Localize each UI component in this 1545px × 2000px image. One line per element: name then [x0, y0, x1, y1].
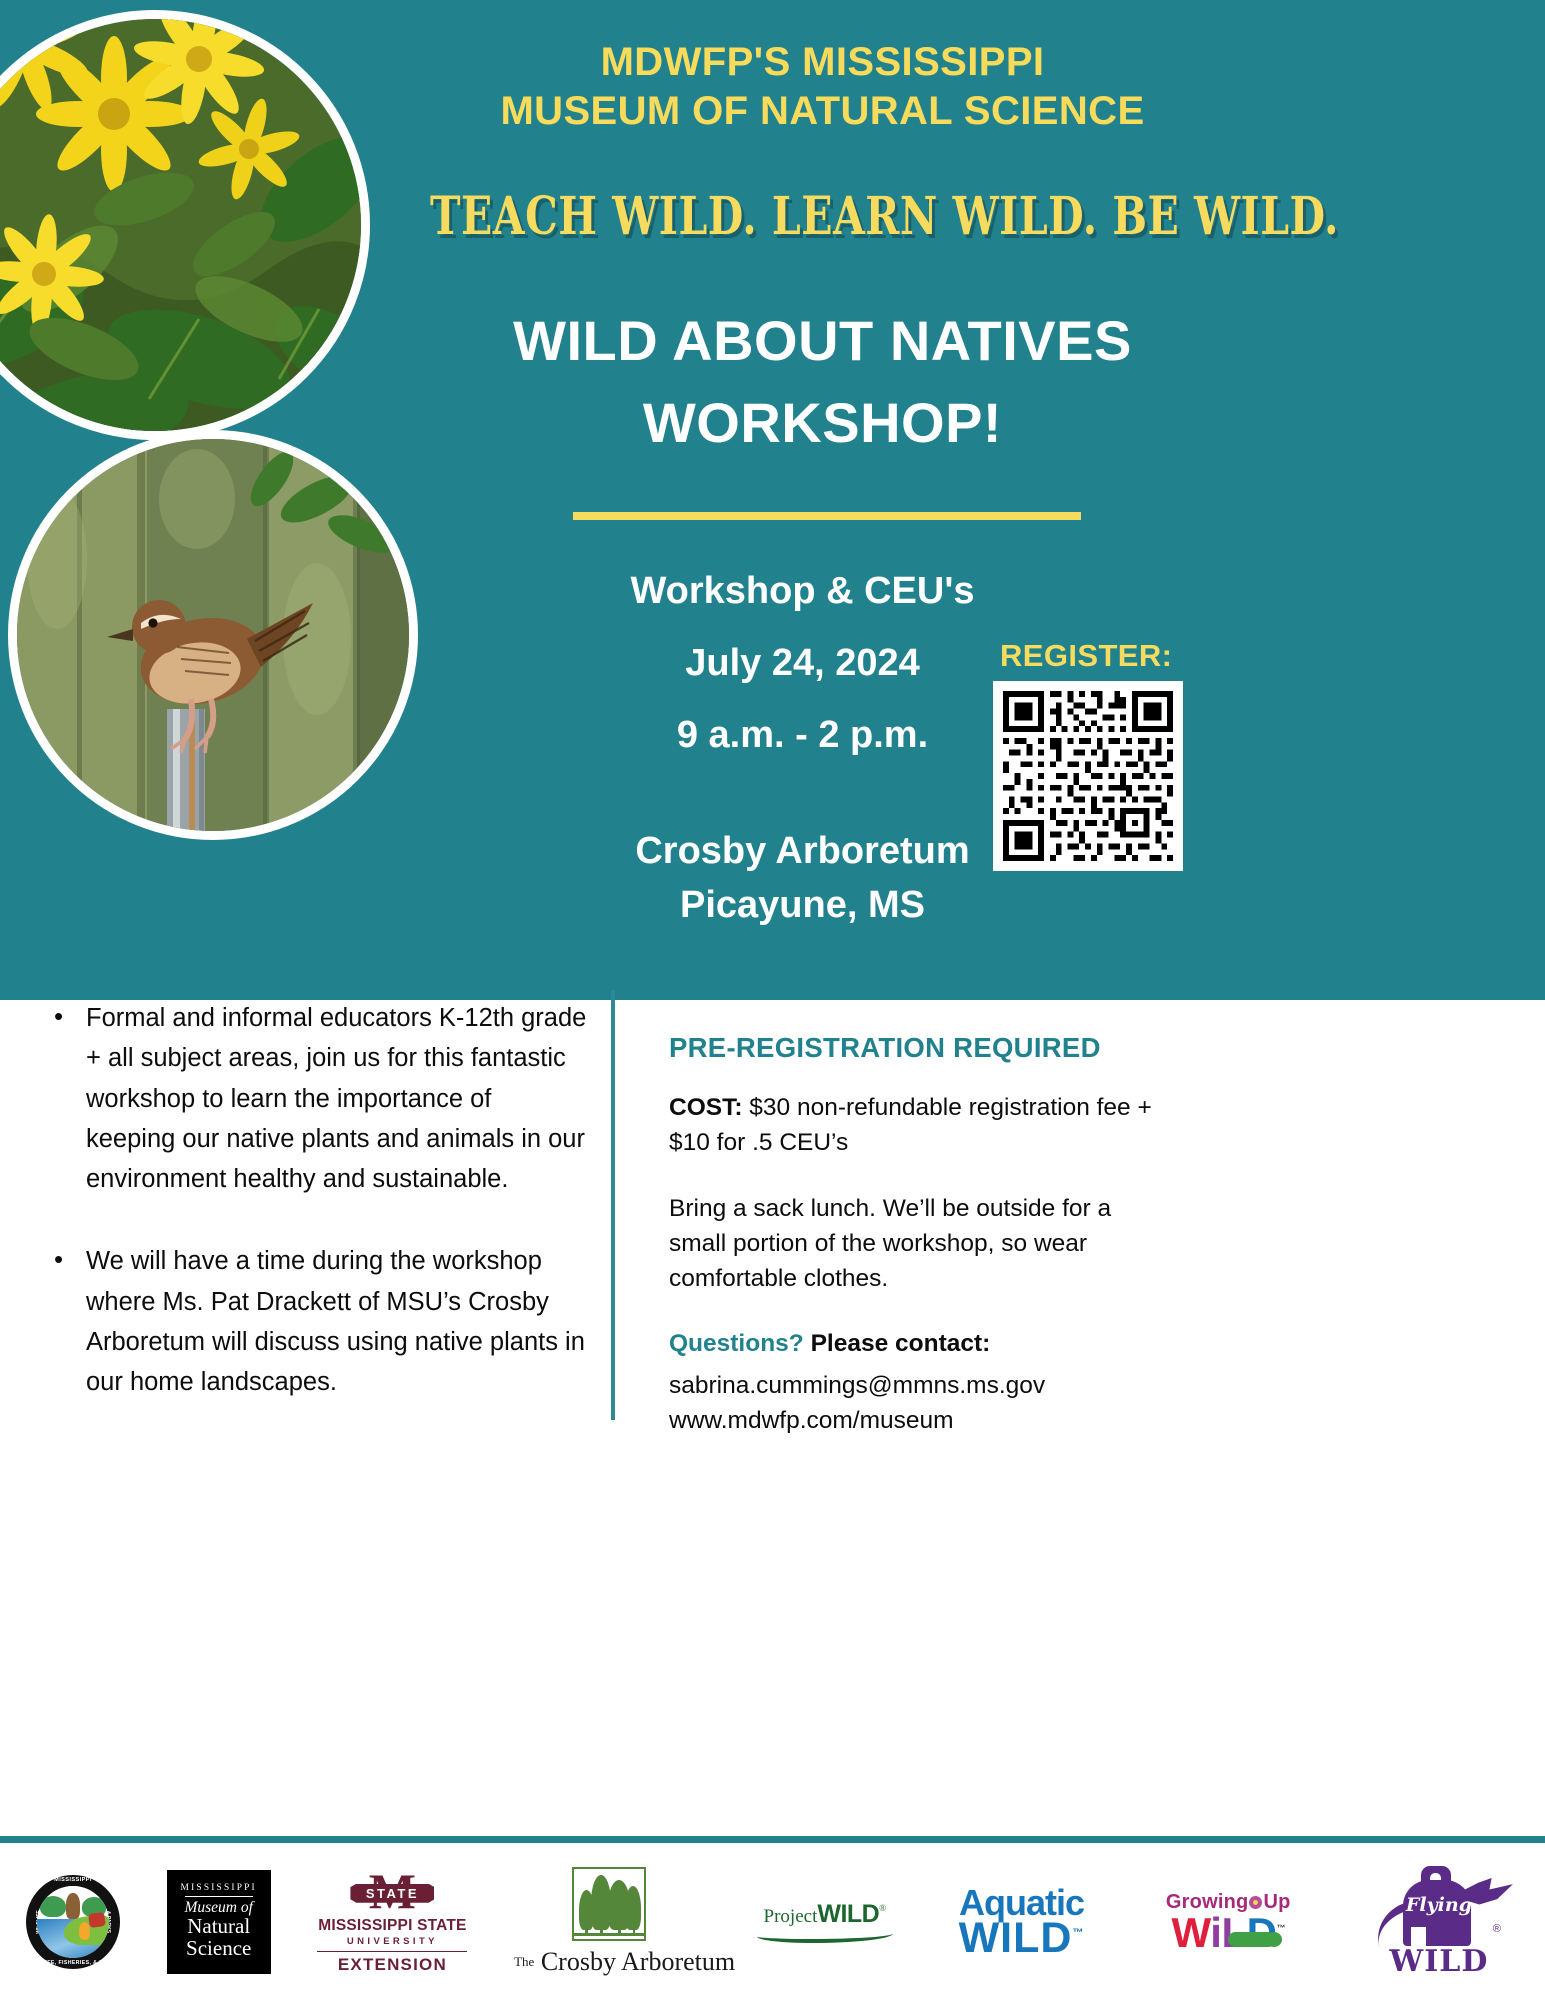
qr-code-image	[1003, 691, 1173, 861]
column-divider	[611, 990, 615, 1420]
logo-growing-up-wild: GrowingUp WiLD™	[1144, 1891, 1312, 1953]
tm-mark: ™	[1072, 1927, 1084, 1939]
crosby-title: The Crosby Arboretum	[514, 1947, 704, 1977]
pre-registration-panel: PRE-REGISTRATION REQUIRED COST: $30 non-…	[669, 1032, 1159, 1439]
logo-mdwfp-seal: MISSISSIPPI WILDLIFE & PARKS WILDLIFE, F…	[26, 1875, 120, 1969]
photo-yellow-wildflowers-image	[0, 19, 361, 431]
seal-emblem	[37, 1886, 109, 1958]
crosby-tree-mark	[572, 1867, 646, 1941]
prereg-heading: PRE-REGISTRATION REQUIRED	[669, 1032, 1159, 1064]
title-divider-rule	[573, 512, 1081, 520]
msu-university: UNIVERSITY	[317, 1936, 467, 1947]
event-line-workshop-ceus: Workshop & CEU's	[430, 572, 1175, 610]
caterpillar-icon	[1228, 1932, 1276, 1947]
page-title: WILD ABOUT NATIVES WORKSHOP!	[440, 300, 1205, 464]
project-word: Project	[764, 1906, 818, 1927]
flower-icon	[1249, 1896, 1262, 1909]
list-item: Formal and informal educators K-12th gra…	[42, 998, 587, 1199]
page-title-line2: WORKSHOP!	[440, 382, 1205, 464]
logo-crosby-arboretum: The Crosby Arboretum	[514, 1867, 704, 1977]
cost-label: COST:	[669, 1094, 743, 1121]
cost-paragraph: COST: $30 non-refundable registration fe…	[669, 1090, 1159, 1161]
registered-mark: ®	[1493, 1923, 1501, 1935]
letter-i: i	[1210, 1909, 1221, 1956]
project-wild-swoosh	[757, 1927, 893, 1943]
list-item: We will have a time during the workshop …	[42, 1241, 587, 1402]
org-title-line1: MDWFP'S MISSISSIPPI	[450, 38, 1195, 87]
msu-extension: EXTENSION	[317, 1955, 467, 1975]
qr-code[interactable]	[993, 681, 1183, 871]
mmns-line4: Science	[186, 1938, 251, 1960]
contact-label: Please contact:	[811, 1330, 991, 1357]
letter-w: W	[1171, 1909, 1210, 1956]
flying-wild-wordmark: WILD	[1359, 1944, 1519, 1979]
wild-wordmark: WiLD™	[1144, 1914, 1312, 1953]
mmns-line1: MISSISSIPPI	[181, 1883, 257, 1893]
photo-carolina-wren	[8, 430, 418, 840]
flying-wild-barn-icon: Flying	[1379, 1864, 1499, 1948]
tagline-container: TEACH WILD. LEARN WILD. BE WILD.	[430, 192, 1200, 240]
logo-project-wild: ProjectWILD®	[751, 1900, 899, 1943]
contact-email[interactable]: sabrina.cummings@mmns.ms.gov	[669, 1368, 1159, 1404]
seal-top-text: MISSISSIPPI	[26, 1877, 120, 1883]
flying-script: Flying	[1406, 1894, 1468, 1916]
page-title-line1: WILD ABOUT NATIVES	[440, 300, 1205, 382]
crosby-the: The	[514, 1954, 534, 1969]
photo-yellow-wildflowers	[0, 10, 370, 440]
register-label: REGISTER:	[1000, 638, 1172, 674]
logo-ms-museum-natural-science: MISSISSIPPI Museum of Natural Science	[167, 1870, 271, 1974]
logo-mississippi-state-extension: M STATE MISSISSIPPI STATE UNIVERSITY EXT…	[317, 1868, 467, 1976]
msu-name: MISSISSIPPI STATE	[317, 1917, 467, 1935]
tagline: TEACH WILD. LEARN WILD. BE WILD.	[430, 185, 1339, 246]
about-bullets: Formal and informal educators K-12th gra…	[42, 998, 587, 1445]
contact-website[interactable]: www.mdwfp.com/museum	[669, 1403, 1159, 1439]
wild-word: WILD™	[946, 1919, 1098, 1958]
venue-city: Picayune, MS	[430, 879, 1175, 933]
about-heading: ABOUT THE WORKSHOP	[58, 938, 406, 970]
logo-flying-wild: Flying WILD ®	[1359, 1864, 1519, 1979]
mmns-line3: Natural	[187, 1916, 250, 1938]
msu-m-mark: M STATE	[346, 1868, 438, 1916]
organization-title: MDWFP'S MISSISSIPPI MUSEUM OF NATURAL SC…	[450, 38, 1195, 136]
org-title-line2: MUSEUM OF NATURAL SCIENCE	[450, 87, 1195, 136]
registered-mark: ®	[879, 1903, 886, 1913]
logo-aquatic-wild: Aquatic WILD™	[946, 1886, 1098, 1958]
footer-divider	[0, 1836, 1545, 1843]
lunch-note: Bring a sack lunch. We’ll be outside for…	[669, 1191, 1159, 1297]
photo-carolina-wren-image	[17, 439, 409, 831]
footer-logos: MISSISSIPPI WILDLIFE & PARKS WILDLIFE, F…	[0, 1843, 1545, 2000]
project-wild-wordmark: ProjectWILD®	[751, 1900, 899, 1929]
seal-bottom-text: WILDLIFE, FISHERIES, & PARKS	[26, 1960, 120, 1966]
tm-mark: ™	[1276, 1923, 1285, 1933]
wild-text: WILD	[959, 1914, 1073, 1962]
msu-state-banner: STATE	[350, 1884, 434, 1903]
crosby-name-text: Crosby Arboretum	[541, 1947, 735, 1976]
wild-word: WILD	[817, 1900, 879, 1928]
questions-line: Questions? Please contact:	[669, 1326, 1159, 1361]
questions-label: Questions?	[669, 1330, 804, 1357]
